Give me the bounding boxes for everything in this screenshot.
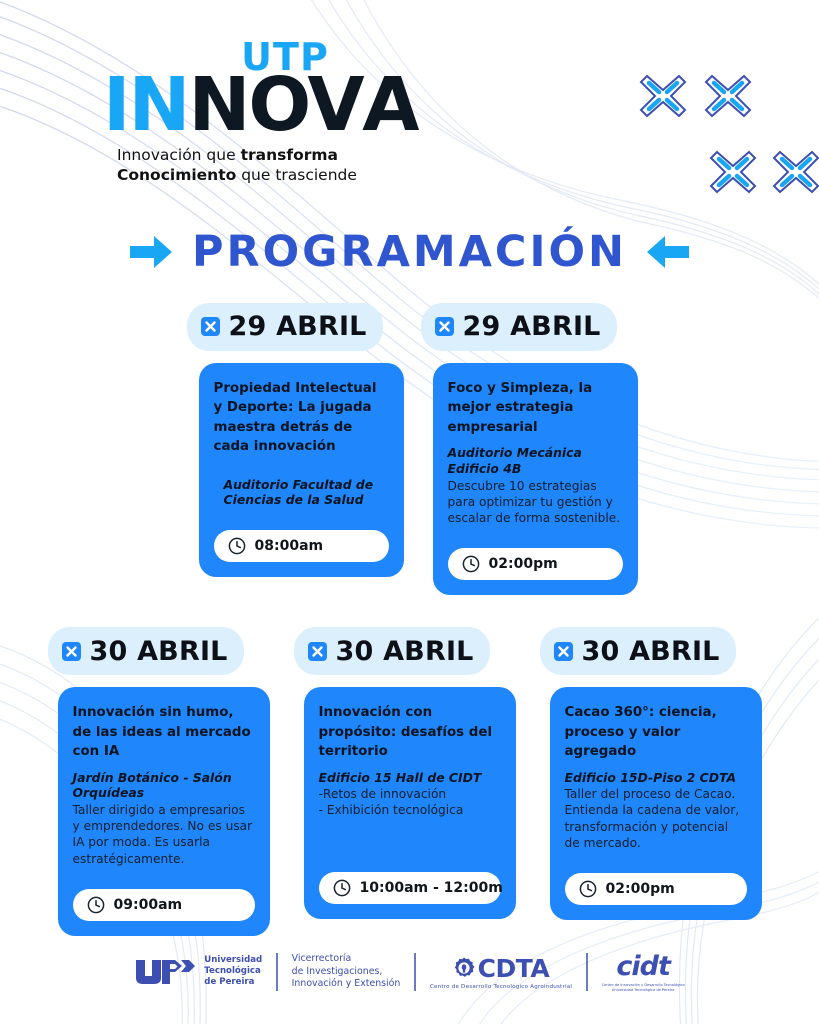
utp-footer-logo: Universidad Tecnológica de Pereira [134,955,262,988]
x-mark-icon [554,642,573,661]
clock-icon [228,537,246,555]
utp-name-text: Universidad Tecnológica de Pereira [204,955,262,988]
event-column: 30 ABRIL Innovación con propósito: desaf… [294,627,526,935]
gear-icon [453,957,475,979]
footer-divider-3 [586,953,588,991]
event-time-pill[interactable]: 02:00pm [565,873,747,905]
event-card[interactable]: Innovación con propósito: desafíos del t… [304,687,516,919]
logo-in-part: IN [103,62,188,148]
event-card[interactable]: Foco y Simpleza, la mejor estrategia emp… [433,363,638,595]
page-title: PROGRAMACIÓN [192,227,627,277]
event-time: 08:00am [255,538,324,554]
x-mark-icon [62,642,81,661]
arrow-right-icon [128,232,174,272]
schedule-row-1: 29 ABRIL Propiedad Intelectual y Deporte… [36,303,783,595]
event-title: Innovación sin humo, de las ideas al mer… [73,703,255,761]
cdta-logo: CDTA Centro de Desarrollo Tecnológico Ag… [430,954,572,990]
date-label: 30 ABRIL [336,636,474,667]
card-spacer [73,867,255,877]
event-time-pill[interactable]: 09:00am [73,889,255,921]
event-time-pill[interactable]: 08:00am [214,530,389,562]
event-card[interactable]: Cacao 360°: ciencia, proceso y valor agr… [550,687,762,920]
card-spacer [565,851,747,861]
date-label: 29 ABRIL [229,311,367,342]
event-time: 02:00pm [489,556,558,572]
tagline-line-1: Innovación que transforma [117,146,433,166]
card-spacer [319,819,501,861]
event-description: Descubre 10 estrategias para optimizar t… [448,478,623,526]
event-time: 02:00pm [606,881,675,897]
card-spacer [448,526,623,536]
event-title: Cacao 360°: ciencia, proceso y valor agr… [565,703,747,761]
tagline-2-bold: Conocimiento [117,166,236,184]
clock-icon [87,896,105,914]
footer-divider-2 [414,953,416,991]
event-card[interactable]: Propiedad Intelectual y Deporte: La juga… [199,363,404,578]
card-spacer [214,508,389,518]
event-time: 09:00am [114,897,183,913]
event-title: Foco y Simpleza, la mejor estrategia emp… [448,379,623,437]
date-label: 30 ABRIL [90,636,228,667]
decorative-x-icon-3 [707,146,759,198]
event-description: -Retos de innovación - Exhibición tecnol… [319,786,501,818]
event-description: Taller dirigido a empresarios y emprende… [73,802,255,866]
event-place: Auditorio Facultad de Ciencias de la Sal… [224,477,389,509]
event-time-pill[interactable]: 10:00am - 12:00m [319,872,501,904]
event-description: Taller del proceso de Cacao. Entienda la… [565,786,747,850]
x-mark-icon [435,317,454,336]
event-place: Auditorio Mecánica Edificio 4B [448,445,623,477]
event-card[interactable]: Innovación sin humo, de las ideas al mer… [58,687,270,935]
vicerrectoria-text: Vicerrectoría de Investigaciones, Innova… [292,953,401,990]
cidt-name-text: cidt [616,951,670,982]
poster-header: UTP INNOVA Innovación que transforma Con… [0,0,819,221]
tagline-2-plain: que trasciende [236,166,357,184]
clock-icon [333,879,351,897]
cidt-logo: cidt Centro de Innovación y Desarrollo T… [602,951,685,993]
decorative-x-icon-1 [637,70,689,122]
event-place: Edificio 15 Hall de CIDT [319,770,501,786]
brand-tagline: Innovación que transforma Conocimiento q… [117,146,433,186]
x-mark-icon [308,642,327,661]
event-time-pill[interactable]: 02:00pm [448,548,623,580]
event-place: Jardín Botánico - Salón Orquídeas [73,770,255,802]
event-time: 10:00am - 12:00m [360,880,503,896]
event-column: 30 ABRIL Innovación sin humo, de las ide… [48,627,280,935]
cdta-subtitle: Centro de Desarrollo Tecnológico Agroind… [430,984,572,990]
date-badge[interactable]: 29 ABRIL [421,303,617,351]
cdta-logo-row: CDTA [453,954,550,983]
cidt-subtitle: Centro de Innovación y Desarrollo Tecnol… [602,983,685,993]
event-title: Propiedad Intelectual y Deporte: La juga… [214,379,389,457]
tagline-line-2: Conocimiento que trasciende [117,166,433,186]
decorative-x-icon-2 [702,70,754,122]
event-column: 29 ABRIL Propiedad Intelectual y Deporte… [187,303,405,595]
date-label: 30 ABRIL [582,636,720,667]
date-label: 29 ABRIL [463,311,601,342]
decorative-x-icon-4 [770,146,819,198]
clock-icon [462,555,480,573]
date-badge[interactable]: 30 ABRIL [540,627,736,675]
poster-footer: Universidad Tecnológica de Pereira Vicer… [0,936,819,1024]
logo-a-part: A [361,70,419,140]
event-column: 30 ABRIL Cacao 360°: ciencia, proceso y … [540,627,772,935]
tagline-1-bold: transforma [241,146,338,164]
date-badge[interactable]: 30 ABRIL [48,627,244,675]
utp-logo-icon [134,957,196,987]
poster-root: UTP INNOVA Innovación que transforma Con… [0,0,819,1024]
logo-nov-part: NOV [188,62,362,148]
clock-icon [579,880,597,898]
x-mark-icon [201,317,220,336]
footer-divider-1 [276,953,278,991]
schedule-row-2: 30 ABRIL Innovación sin humo, de las ide… [36,627,783,935]
logo-innova-wordmark: INNOVA [103,70,433,140]
date-badge[interactable]: 30 ABRIL [294,627,490,675]
utp-innova-logo: UTP INNOVA Innovación que transforma Con… [103,38,433,186]
event-place: Edificio 15D-Piso 2 CDTA [565,770,747,786]
date-badge[interactable]: 29 ABRIL [187,303,383,351]
arrow-left-icon [645,232,691,272]
cdta-name-text: CDTA [478,954,550,983]
schedule-grid: 29 ABRIL Propiedad Intelectual y Deporte… [0,293,819,936]
event-column: 29 ABRIL Foco y Simpleza, la mejor estra… [421,303,639,595]
section-title-row: PROGRAMACIÓN [0,211,819,293]
tagline-1-plain: Innovación que [117,146,241,164]
event-title: Innovación con propósito: desafíos del t… [319,703,501,761]
